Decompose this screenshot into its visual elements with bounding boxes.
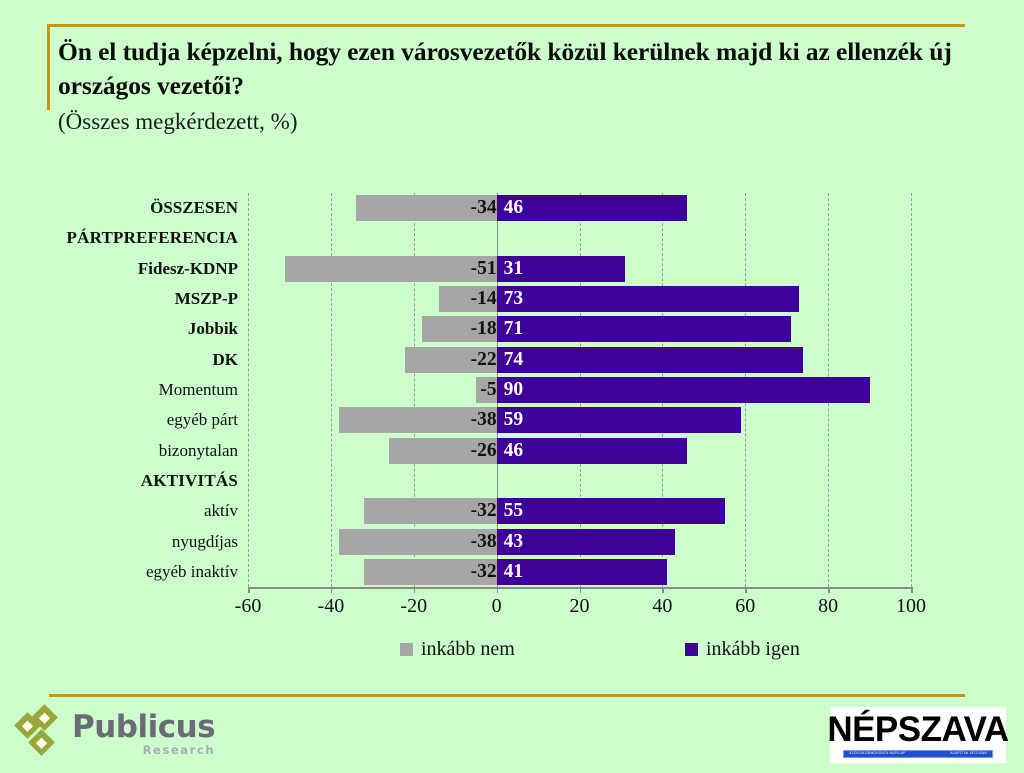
bar-value-positive: 41 (497, 559, 524, 585)
category-label: egyéb inaktív (18, 562, 248, 582)
axis-tick (580, 587, 582, 593)
bar-value-negative: -51 (285, 256, 502, 282)
chart-row: -2646 (248, 435, 911, 465)
chart-row (248, 466, 911, 496)
axis-tick (497, 587, 499, 593)
category-label: bizonytalan (18, 441, 248, 461)
bar-value-negative: -22 (405, 347, 502, 373)
publicus-name: Publicus (72, 712, 215, 743)
decorative-bottom-rule (49, 694, 965, 697)
bar-value-positive: 59 (497, 407, 524, 433)
axis-tick (248, 587, 250, 593)
category-label: Jobbik (18, 319, 248, 339)
page-title: Ön el tudja képzelni, hogy ezen városvez… (58, 35, 958, 104)
axis-tick-label: -20 (400, 595, 427, 618)
axis-tick (414, 587, 416, 593)
bar-positive (497, 438, 688, 464)
legend-label: inkább nem (421, 638, 515, 661)
decorative-left-rule (47, 24, 50, 110)
nepszava-logo: NÉPSZAVA SZOCIÁLDEMOKRATA NAPILAP ALAPÍT… (830, 707, 1006, 763)
bar-value-negative: -32 (364, 559, 503, 585)
chart-legend: inkább neminkább igen (0, 638, 1024, 668)
axis-tick-label: 40 (652, 595, 672, 618)
axis-tick-label: 60 (735, 595, 755, 618)
publicus-subtitle: Research (72, 745, 215, 757)
chart-row: -3859 (248, 405, 911, 435)
category-label: nyugdíjas (18, 532, 248, 552)
chart-row: -5131 (248, 254, 911, 284)
axis-tick-label: 20 (570, 595, 590, 618)
legend-item[interactable]: inkább igen (685, 638, 800, 661)
bar-value-negative: -26 (389, 438, 503, 464)
chart-area: -3446-5131-1473-1871-2274-590-3859-2646-… (0, 170, 1024, 690)
category-label: aktív (18, 501, 248, 521)
plot-area: -3446-5131-1473-1871-2274-590-3859-2646-… (248, 193, 911, 587)
bar-positive (497, 407, 741, 433)
chart-row (248, 223, 911, 253)
bar-value-positive: 31 (497, 256, 524, 282)
bar-positive (497, 286, 799, 312)
axis-tick (828, 587, 830, 593)
bar-positive (497, 316, 791, 342)
axis-tick-label: 100 (896, 595, 926, 618)
bar-positive (497, 498, 725, 524)
bar-value-negative: -38 (339, 407, 502, 433)
legend-item[interactable]: inkább nem (400, 638, 515, 661)
axis-tick-label: -60 (235, 595, 262, 618)
bar-value-positive: 90 (497, 377, 524, 403)
category-label: PÁRTPREFERENCIA (18, 228, 248, 248)
chart-row: -1473 (248, 284, 911, 314)
axis-tick-label: -40 (318, 595, 345, 618)
chart-row: -3843 (248, 526, 911, 556)
bar-value-positive: 73 (497, 286, 524, 312)
axis-tick-label: 80 (818, 595, 838, 618)
nepszava-name: NÉPSZAVA (827, 712, 1008, 747)
axis-tick (662, 587, 664, 593)
bar-value-positive: 71 (497, 316, 524, 342)
legend-swatch-icon (400, 643, 413, 656)
chart-row: -1871 (248, 314, 911, 344)
category-label: AKTIVITÁS (18, 471, 248, 491)
bar-value-positive: 43 (497, 529, 524, 555)
title-block: Ön el tudja képzelni, hogy ezen városvez… (58, 35, 958, 135)
publicus-wordmark: Publicus Research (72, 712, 215, 757)
bar-value-negative: -18 (422, 316, 503, 342)
chart-row: -590 (248, 375, 911, 405)
bar-value-positive: 74 (497, 347, 524, 373)
bar-positive (497, 529, 675, 555)
category-label: MSZP-P (18, 289, 248, 309)
bar-positive (497, 195, 688, 221)
nepszava-strip-right: ALAPÍTVA 1873-BAN (950, 752, 987, 755)
axis-tick (331, 587, 333, 593)
axis-tick (745, 587, 747, 593)
axis-tick (911, 587, 913, 593)
nepszava-strip: SZOCIÁLDEMOKRATA NAPILAP ALAPÍTVA 1873-B… (843, 750, 993, 758)
legend-label: inkább igen (706, 638, 800, 661)
axis-tick-label: 0 (492, 595, 502, 618)
page-subtitle: (Összes megkérdezett, %) (58, 108, 958, 136)
publicus-diamond-icon (18, 710, 64, 758)
category-label: Fidesz-KDNP (18, 259, 248, 279)
chart-row: -3446 (248, 193, 911, 223)
bar-value-negative: -38 (339, 529, 502, 555)
bar-value-negative: -32 (364, 498, 503, 524)
chart-row: -3241 (248, 557, 911, 587)
bar-value-negative: -14 (439, 286, 503, 312)
gridline (911, 193, 912, 587)
category-label: DK (18, 350, 248, 370)
category-label: ÖSSZESEN (18, 198, 248, 218)
bar-positive (497, 347, 804, 373)
bar-positive (497, 377, 870, 403)
chart-row: -3255 (248, 496, 911, 526)
bar-value-positive: 46 (497, 195, 524, 221)
publicus-logo: Publicus Research (18, 710, 215, 758)
legend-swatch-icon (685, 643, 698, 656)
category-label: Momentum (18, 380, 248, 400)
decorative-top-rule (47, 24, 965, 27)
bar-value-positive: 46 (497, 438, 524, 464)
bar-value-negative: -34 (356, 195, 503, 221)
bar-value-positive: 55 (497, 498, 524, 524)
chart-row: -2274 (248, 345, 911, 375)
category-label: egyéb párt (18, 410, 248, 430)
nepszava-strip-left: SZOCIÁLDEMOKRATA NAPILAP (849, 752, 906, 755)
